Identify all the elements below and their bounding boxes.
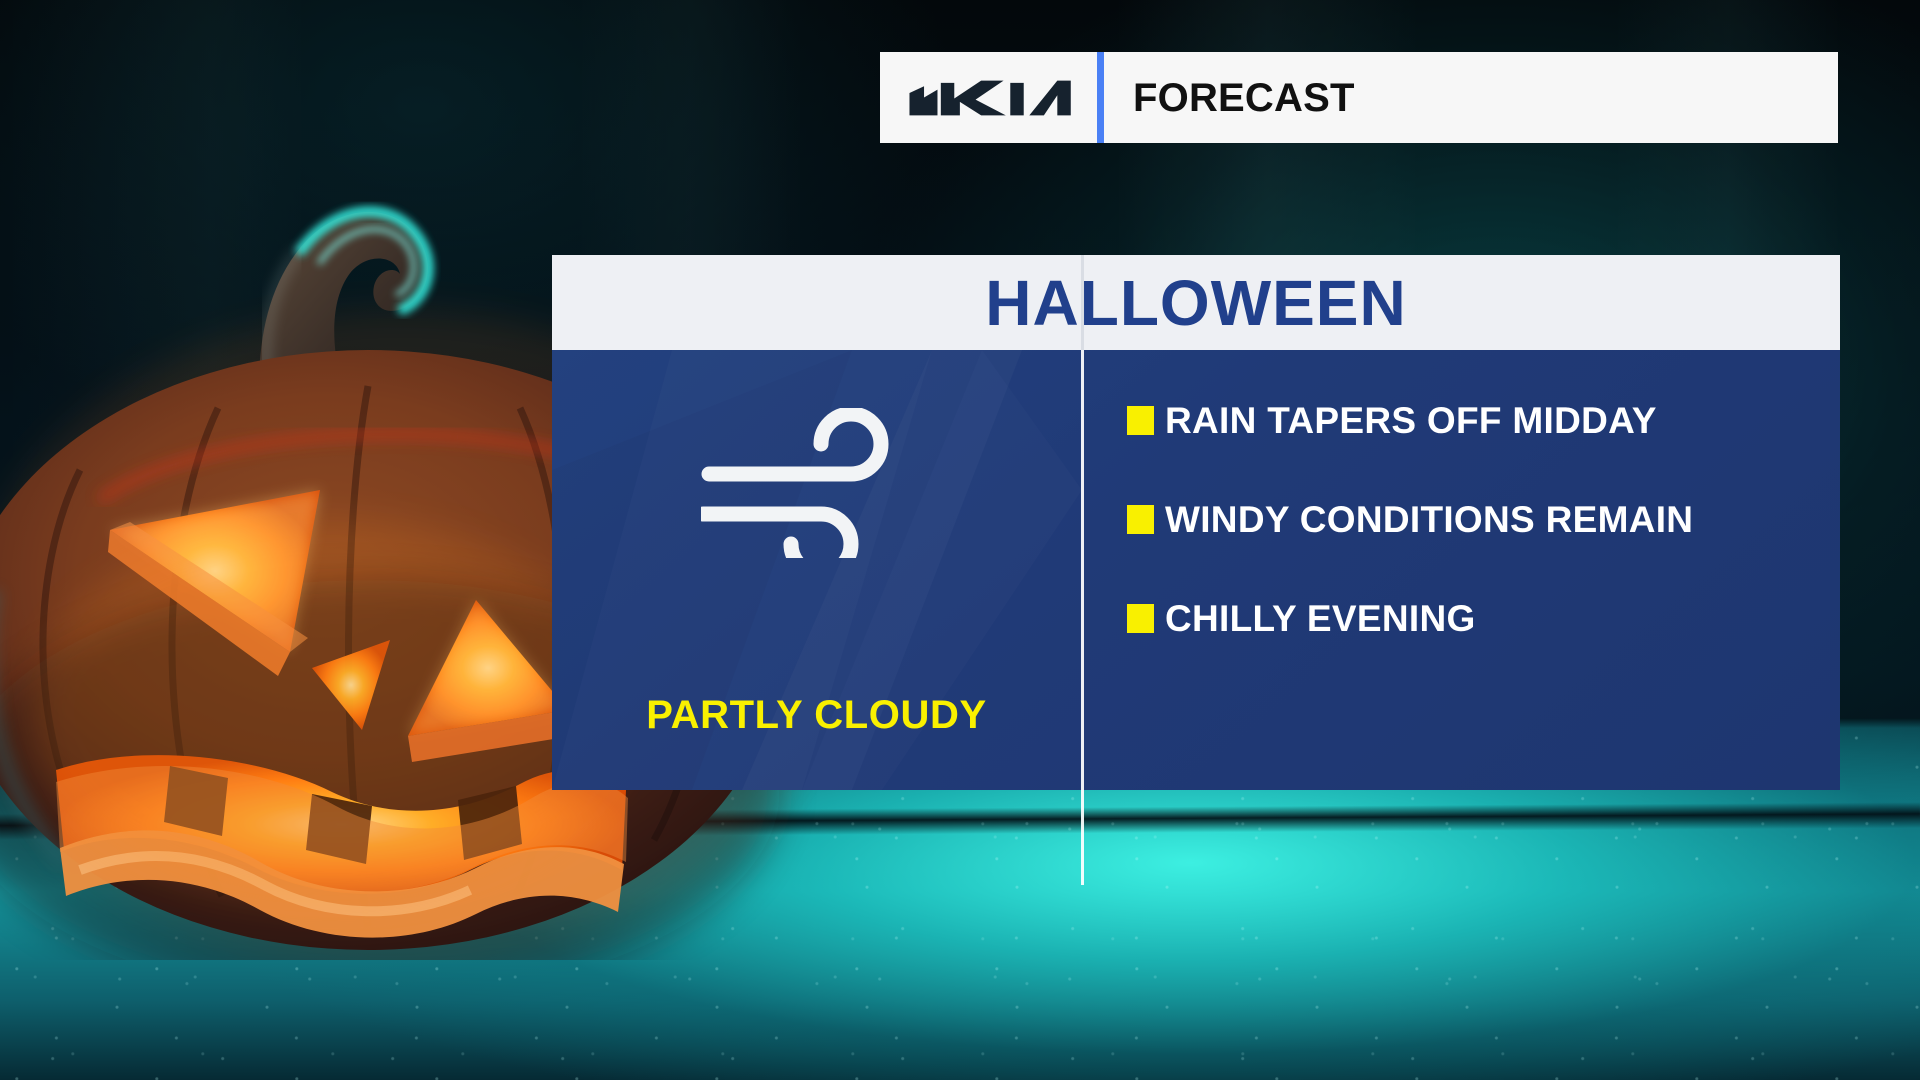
- header-accent-divider: [1097, 52, 1104, 143]
- condition-label: PARTLY CLOUDY: [552, 695, 1081, 735]
- kia-forecast-header: FORECAST: [880, 52, 1838, 143]
- bullet-marker-icon: [1127, 604, 1154, 633]
- panel-title: HALLOWEEN: [985, 271, 1406, 335]
- list-item: RAIN TAPERS OFF MIDDAY: [1127, 402, 1840, 439]
- kia-logo: [880, 52, 1097, 143]
- forecast-title: FORECAST: [1104, 52, 1838, 143]
- bullet-marker-icon: [1127, 406, 1154, 435]
- panel-title-bar: HALLOWEEN: [552, 255, 1840, 350]
- bullet-label: RAIN TAPERS OFF MIDDAY: [1165, 402, 1657, 439]
- forecast-graphic: FORECAST HALLOWEEN: [0, 0, 1920, 1080]
- panel-body-divider: [1081, 350, 1084, 885]
- list-item: WINDY CONDITIONS REMAIN: [1127, 501, 1840, 538]
- forecast-panel: HALLOWEEN: [552, 255, 1840, 790]
- condition-section: PARTLY CLOUDY: [552, 350, 1081, 790]
- bullet-label: CHILLY EVENING: [1165, 600, 1476, 637]
- wind-icon: [701, 408, 933, 558]
- list-item: CHILLY EVENING: [1127, 600, 1840, 637]
- bullet-marker-icon: [1127, 505, 1154, 534]
- panel-body: PARTLY CLOUDY RAIN TAPERS OFF MIDDAY WIN…: [552, 350, 1840, 790]
- bullet-label: WINDY CONDITIONS REMAIN: [1165, 501, 1693, 538]
- panel-title-divider: [1081, 255, 1084, 350]
- forecast-bullet-list: RAIN TAPERS OFF MIDDAY WINDY CONDITIONS …: [1081, 350, 1840, 790]
